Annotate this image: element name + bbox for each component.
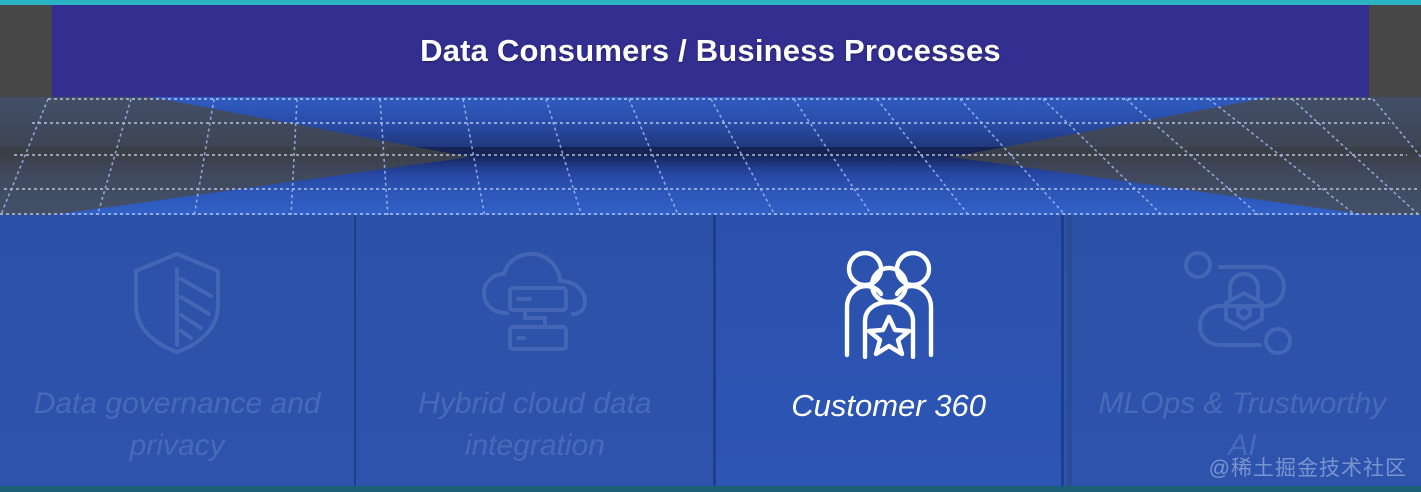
right-shadow-wedge [951,97,1421,217]
header-banner: Data Consumers / Business Processes [52,5,1369,97]
lock-pipeline-icon [1182,245,1302,360]
shield-icon [117,245,237,360]
panel-label: Data governance and privacy [0,383,354,467]
panel-customer-360[interactable]: Customer 360 [713,215,1063,486]
panel-mlops[interactable]: MLOps & Trustworthy AI [1064,215,1421,486]
capability-panels: Data governance and privacy Hybrid cloud… [0,215,1421,486]
panel-data-governance[interactable]: Data governance and privacy [0,215,354,486]
page-title: Data Consumers / Business Processes [420,33,1001,69]
people-star-icon [829,245,949,360]
panel-hybrid-cloud[interactable]: Hybrid cloud data integration [354,215,713,486]
top-accent-rule [0,0,1421,5]
left-shadow-wedge [0,97,470,217]
panel-label: Hybrid cloud data integration [356,383,713,467]
diagram-canvas: Data Consumers / Business Processes Data… [0,0,1421,492]
cloud-server-icon [475,245,595,360]
perspective-floor [0,97,1421,217]
bottom-accent-rule [0,486,1421,492]
panel-label: Customer 360 [716,385,1060,427]
watermark: @稀土掘金技术社区 [1209,452,1407,482]
